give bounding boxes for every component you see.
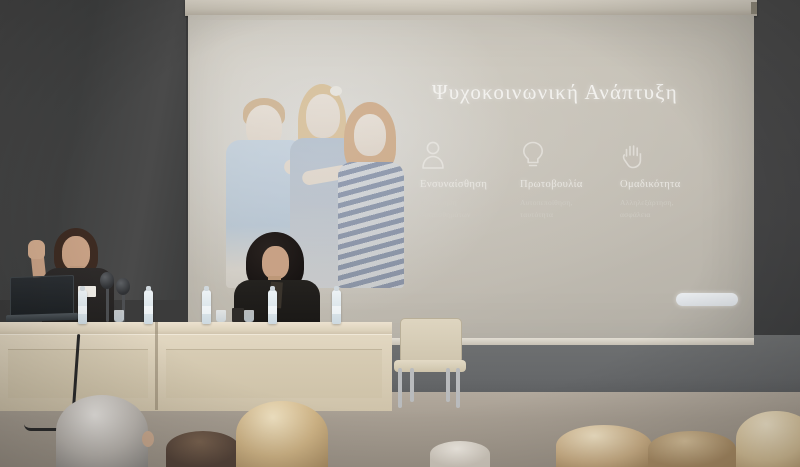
projector-screen-housing — [185, 0, 757, 16]
table-panel — [166, 349, 382, 398]
chair-leg — [410, 368, 414, 402]
speaker-raised-hand — [28, 240, 45, 259]
hand-icon — [620, 140, 646, 170]
drinking-glass — [244, 310, 254, 322]
microphone-head — [100, 272, 114, 289]
wall-right — [752, 0, 800, 352]
water-bottle — [144, 290, 153, 324]
water-bottle — [268, 290, 277, 324]
chair-leg — [446, 368, 450, 402]
slide-column-subtext: Κατανόηση συναισθημάτων — [420, 197, 506, 222]
child-figure-right — [338, 102, 404, 288]
slide-column-heading: Πρωτοβουλία — [520, 179, 620, 190]
chair-leg — [456, 368, 460, 408]
audience-head — [166, 431, 240, 467]
lightbulb-icon — [520, 140, 546, 170]
slide-column-subtext: Αλληλεξάρτηση, ασφάλεια — [620, 197, 706, 222]
person-icon — [420, 140, 446, 170]
slide-column-teamwork: Ομαδικότητα Αλληλεξάρτηση, ασφάλεια — [620, 140, 720, 222]
slide-title: Ψυχοκοινωνική Ανάπτυξη — [432, 80, 678, 105]
empty-chair-back — [400, 318, 462, 364]
hair-bow — [330, 86, 342, 96]
housing-end-cap — [751, 2, 757, 14]
microphone-stand — [106, 286, 109, 322]
speaker-head — [62, 236, 90, 270]
water-bottle — [202, 290, 211, 324]
microphone-head — [116, 278, 130, 295]
drinking-glass — [114, 310, 124, 322]
audience-head — [648, 431, 736, 467]
audience-head — [556, 425, 652, 467]
speaker-head — [262, 246, 289, 279]
slide-columns: Ενσυναίσθηση Κατανόηση συναισθημάτων Πρω… — [420, 140, 730, 222]
slide-pill-button[interactable] — [676, 293, 738, 306]
panel-table-front — [0, 334, 392, 411]
presentation-photo-scene: Ψυχοκοινωνική Ανάπτυξη Ενσυναίσθηση Κατα… — [0, 0, 800, 467]
slide-column-heading: Ενσυναίσθηση — [420, 179, 520, 190]
child-head — [354, 114, 386, 156]
slide-column-heading: Ομαδικότητα — [620, 179, 720, 190]
child-body — [338, 162, 404, 288]
audience-ear — [142, 431, 154, 447]
chair-leg — [398, 368, 402, 408]
audience-head — [56, 395, 148, 467]
slide-column-empathy: Ενσυναίσθηση Κατανόηση συναισθημάτων — [420, 140, 520, 222]
small-box-on-table — [232, 308, 244, 322]
audience-head — [236, 401, 328, 467]
slide-column-initiative: Πρωτοβουλία Αυτοπεποίθηση, ταυτότητα — [520, 140, 620, 222]
water-bottle — [332, 290, 341, 324]
water-bottle — [78, 290, 87, 324]
drinking-glass — [216, 310, 226, 322]
audience-head — [736, 411, 800, 467]
table-seam — [155, 322, 158, 410]
audience-head — [430, 441, 490, 467]
child-head — [306, 94, 340, 138]
slide-column-subtext: Αυτοπεποίθηση, ταυτότητα — [520, 197, 606, 222]
